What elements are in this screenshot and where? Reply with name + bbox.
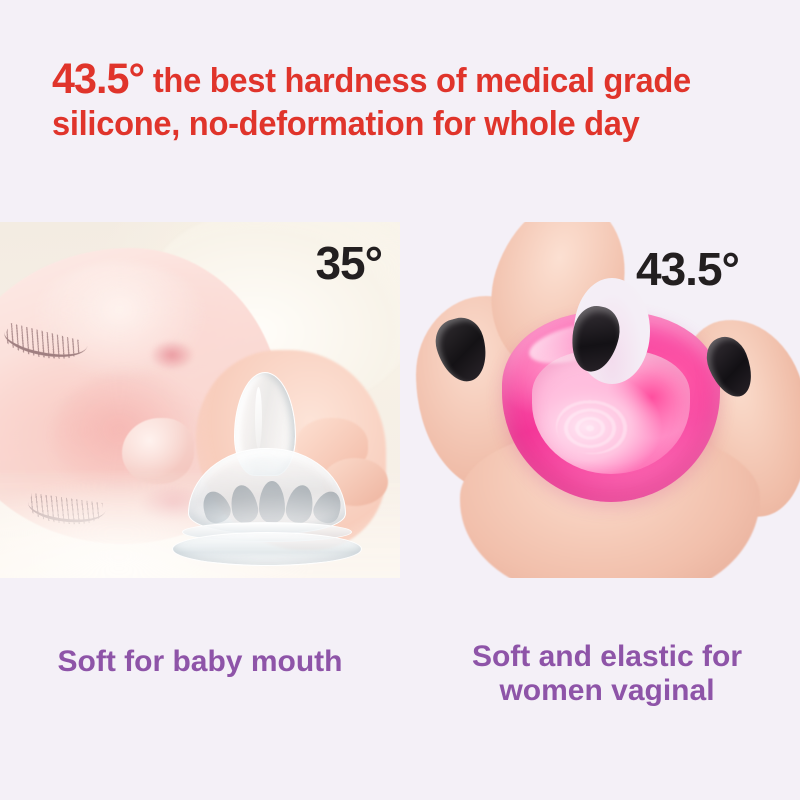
nipple-rib — [284, 483, 317, 525]
right-hardness-badge: 43.5° — [636, 246, 739, 292]
product-infographic: 43.5° the best hardness of medical grade… — [0, 0, 800, 800]
nipple-rib — [228, 483, 261, 525]
cup-swirl-detail — [556, 398, 630, 454]
right-caption: Soft and elastic for women vaginal — [414, 640, 800, 708]
baby-lip-upper — [150, 340, 194, 370]
left-hardness-badge: 35° — [315, 240, 382, 286]
nipple-base-flange — [172, 532, 362, 566]
right-caption-line2: women vaginal — [499, 674, 714, 707]
left-caption: Soft for baby mouth — [0, 645, 400, 679]
left-photo-panel: 35° — [0, 222, 400, 578]
right-caption-line1: Soft and elastic for — [472, 640, 742, 673]
silicone-bottle-nipple — [172, 372, 362, 562]
right-photo-panel — [414, 222, 800, 578]
headline: 43.5° the best hardness of medical grade… — [52, 58, 736, 146]
nipple-rib — [310, 487, 346, 526]
headline-emphasis: 43.5° — [52, 55, 144, 103]
nipple-rib — [198, 487, 234, 526]
nipple-rib — [259, 481, 285, 523]
headline-line2: silicone, no-deformation for whole day — [52, 105, 640, 143]
headline-line1-rest: the best hardness of medical grade — [144, 62, 691, 100]
